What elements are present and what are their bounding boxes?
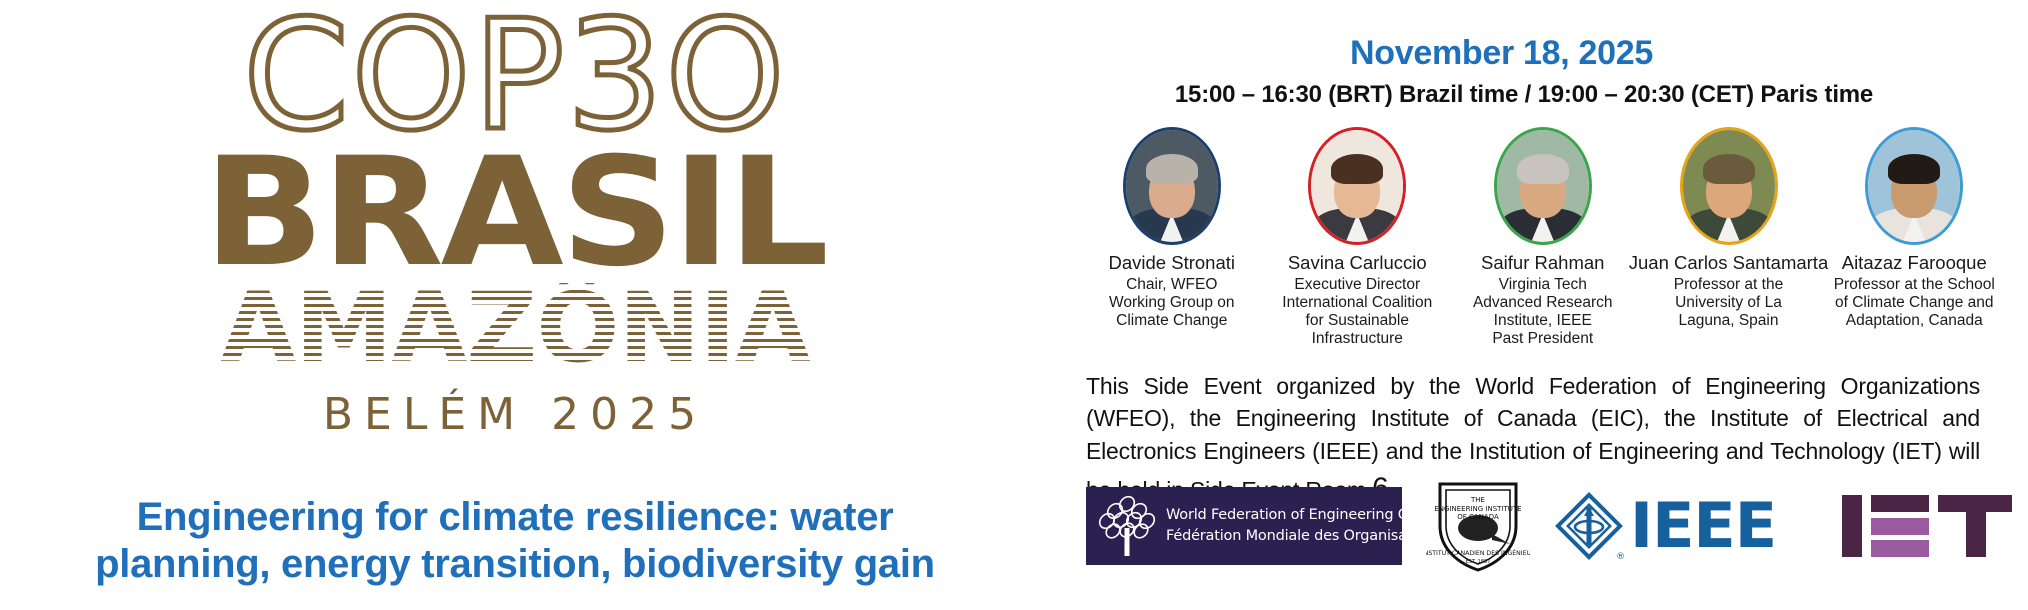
speaker-role-line: Climate Change: [1109, 312, 1235, 330]
speaker-role-line: Adaptation, Canada: [1834, 312, 1995, 330]
speaker-role-line: Infrastructure: [1282, 330, 1432, 348]
speaker-name: Savina Carluccio: [1288, 253, 1427, 274]
event-banner: COP3O BRASIL AMAZÔNIA BELÉM 2025 Enginee…: [0, 0, 2028, 610]
eic-logo: THE ENGINEERING INSTITUTE OF CANADA L'IN…: [1426, 478, 1530, 574]
speaker-name: Davide Stronati: [1109, 253, 1235, 274]
avatar-hair: [1703, 154, 1755, 184]
iet-e-bar-top: [1871, 495, 1929, 512]
svg-text:OF CANADA: OF CANADA: [1457, 513, 1499, 521]
wfeo-logo: World Federation of Engineering Organiza…: [1086, 487, 1402, 565]
speaker-role: Chair, WFEOWorking Group onClimate Chang…: [1109, 276, 1235, 330]
speaker-avatar: [1494, 127, 1592, 245]
event-date: November 18, 2025: [1030, 34, 2028, 73]
speaker-role-line: of Climate Change and: [1834, 294, 1995, 312]
speaker-role-line: Virginia Tech: [1473, 276, 1613, 294]
speaker-avatar: [1680, 127, 1778, 245]
iet-t-stem: [1966, 495, 1986, 557]
speaker-role-line: Chair, WFEO: [1109, 276, 1235, 294]
speakers-list: Davide StronatiChair, WFEOWorking Group …: [1030, 127, 2028, 348]
avatar-hair: [1146, 154, 1198, 184]
eic-shield-icon: THE ENGINEERING INSTITUTE OF CANADA L'IN…: [1426, 478, 1530, 574]
cop30-logo: COP3O BRASIL AMAZÔNIA BELÉM 2025: [195, 6, 835, 440]
speaker-role-line: University of La: [1674, 294, 1783, 312]
svg-text:®: ®: [1616, 552, 1624, 561]
speaker-role-line: Advanced Research: [1473, 294, 1613, 312]
speaker-role: Professor at theUniversity of LaLaguna, …: [1674, 276, 1783, 330]
speaker-name: Saifur Rahman: [1481, 253, 1604, 274]
speaker-name: Aitazaz Farooque: [1842, 253, 1987, 274]
speaker-role: Virginia TechAdvanced ResearchInstitute,…: [1473, 276, 1613, 348]
speaker-card: Davide StronatiChair, WFEOWorking Group …: [1086, 127, 1258, 330]
speaker-role-line: Professor at the School: [1834, 276, 1995, 294]
iet-e-bar-middle: [1871, 518, 1929, 535]
iet-letter-t: [1938, 495, 2012, 557]
ieee-logo: ® IEEE: [1554, 491, 1776, 561]
svg-text:THE: THE: [1470, 496, 1485, 504]
amazonia-wordmark: AMAZÔNIA: [189, 283, 842, 374]
event-title: Engineering for climate resilience: wate…: [0, 494, 1030, 588]
avatar-hair: [1331, 154, 1383, 184]
svg-text:L'INSTITUT CANADIEN DES INGÉNI: L'INSTITUT CANADIEN DES INGÉNIEURS: [1426, 548, 1530, 557]
iet-letter-e: [1871, 495, 1929, 557]
svg-text:EST. 1887: EST. 1887: [1466, 559, 1491, 565]
organizer-logos: World Federation of Engineering Organiza…: [1086, 478, 1988, 574]
speaker-role-line: Laguna, Spain: [1674, 312, 1783, 330]
amazonia-wordmark-wrap: AMAZÔNIA: [195, 283, 835, 375]
speaker-avatar: [1308, 127, 1406, 245]
cop30-logo-panel: COP3O BRASIL AMAZÔNIA BELÉM 2025 Enginee…: [0, 0, 1030, 610]
speaker-card: Savina CarluccioExecutive DirectorIntern…: [1272, 127, 1444, 348]
speaker-role-line: Executive Director: [1282, 276, 1432, 294]
speaker-role-line: Past President: [1473, 330, 1613, 348]
speaker-avatar: [1865, 127, 1963, 245]
svg-text:ENGINEERING INSTITUTE: ENGINEERING INSTITUTE: [1434, 505, 1521, 513]
speaker-role-line: for Sustainable: [1282, 312, 1432, 330]
speaker-avatar: [1123, 127, 1221, 245]
iet-letter-i: [1842, 495, 1862, 557]
speaker-role: Executive DirectorInternational Coalitio…: [1282, 276, 1432, 348]
speaker-card: Saifur RahmanVirginia TechAdvanced Resea…: [1457, 127, 1629, 348]
wfeo-tree-icon: [1098, 495, 1156, 557]
speaker-role-line: Institute, IEEE: [1473, 312, 1613, 330]
speaker-card: Juan Carlos SantamartaProfessor at theUn…: [1643, 127, 1815, 330]
speaker-role: Professor at the Schoolof Climate Change…: [1834, 276, 1995, 330]
event-details-panel: November 18, 2025 15:00 – 16:30 (BRT) Br…: [1030, 0, 2028, 610]
iet-e-bar-bottom: [1871, 540, 1929, 557]
event-time: 15:00 – 16:30 (BRT) Brazil time / 19:00 …: [1030, 81, 2028, 109]
brasil-wordmark: BRASIL: [204, 150, 827, 278]
speaker-card: Aitazaz FarooqueProfessor at the Schoolo…: [1829, 127, 2001, 330]
iet-logo: [1842, 495, 2012, 557]
speaker-role-line: Working Group on: [1109, 294, 1235, 312]
speaker-role-line: International Coalition: [1282, 294, 1432, 312]
avatar-hair: [1517, 154, 1569, 184]
ieee-diamond-icon: ®: [1554, 491, 1624, 561]
belem-2025-wordmark: BELÉM 2025: [323, 389, 707, 440]
ieee-wordmark: IEEE: [1630, 495, 1776, 557]
speaker-name: Juan Carlos Santamarta: [1629, 253, 1829, 274]
avatar-hair: [1888, 154, 1940, 184]
speaker-role-line: Professor at the: [1674, 276, 1783, 294]
